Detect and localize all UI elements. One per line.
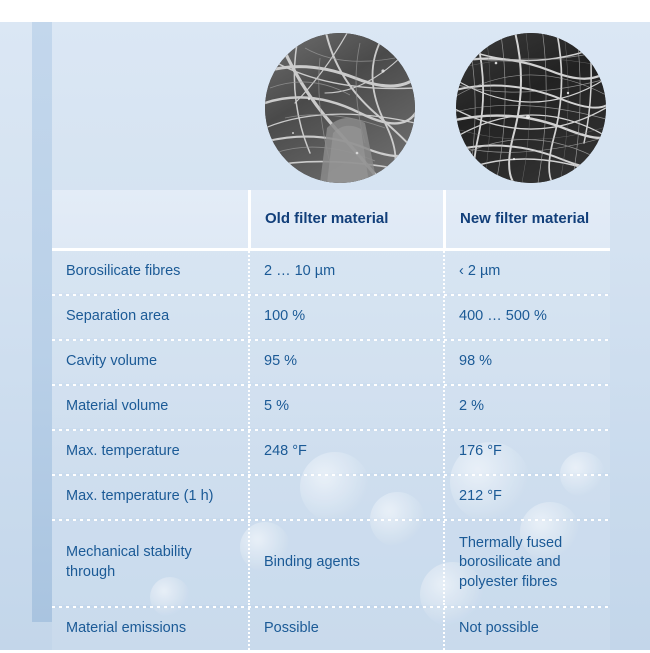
row-old-value: 95 %	[248, 341, 443, 383]
row-property: Cavity volume	[52, 341, 248, 383]
table-row: Borosilicate fibres 2 … 10 µm ‹ 2 µm	[52, 251, 610, 293]
table-row: Material volume 5 % 2 %	[52, 386, 610, 428]
header-cell-property	[52, 190, 248, 248]
row-property: Max. temperature	[52, 431, 248, 473]
row-new-value: 2 %	[443, 386, 610, 428]
figure-root: Old filter material New filter material …	[0, 0, 650, 650]
table-row: Max. temperature (1 h) 212 °F	[52, 476, 610, 518]
row-old-value: 100 %	[248, 296, 443, 338]
row-property: Material emissions	[52, 608, 248, 650]
table-row: Mechanical stability through Binding age…	[52, 521, 610, 605]
row-old-value: 2 … 10 µm	[248, 251, 443, 293]
table-row: Separation area 100 % 400 … 500 %	[52, 296, 610, 338]
header-cell-new-filter: New filter material	[443, 190, 610, 248]
row-old-value: Possible	[248, 608, 443, 650]
row-old-value: 248 °F	[248, 431, 443, 473]
row-property: Borosilicate fibres	[52, 251, 248, 293]
table-row: Cavity volume 95 % 98 %	[52, 341, 610, 383]
header-cell-old-filter: Old filter material	[248, 190, 443, 248]
row-new-value: 176 °F	[443, 431, 610, 473]
row-new-value: 98 %	[443, 341, 610, 383]
row-new-value: ‹ 2 µm	[443, 251, 610, 293]
row-property: Mechanical stability through	[52, 521, 248, 605]
comparison-table: Old filter material New filter material …	[52, 190, 610, 650]
row-old-value	[248, 476, 443, 518]
left-accent-band	[32, 22, 52, 622]
row-property: Material volume	[52, 386, 248, 428]
table-row: Max. temperature 248 °F 176 °F	[52, 431, 610, 473]
row-old-value: Binding agents	[248, 521, 443, 605]
table-row: Material emissions Possible Not possible	[52, 608, 610, 650]
new-filter-sem-image	[456, 33, 606, 183]
row-new-value: 400 … 500 %	[443, 296, 610, 338]
old-fibre-micrograph-icon	[265, 33, 415, 183]
row-property: Max. temperature (1 h)	[52, 476, 248, 518]
new-fibre-micrograph-icon	[456, 33, 606, 183]
row-new-value: Thermally fused borosilicate and polyest…	[443, 521, 610, 605]
old-filter-sem-image	[265, 33, 415, 183]
row-new-value: 212 °F	[443, 476, 610, 518]
table-header-row: Old filter material New filter material	[52, 190, 610, 248]
row-property: Separation area	[52, 296, 248, 338]
row-new-value: Not possible	[443, 608, 610, 650]
row-old-value: 5 %	[248, 386, 443, 428]
